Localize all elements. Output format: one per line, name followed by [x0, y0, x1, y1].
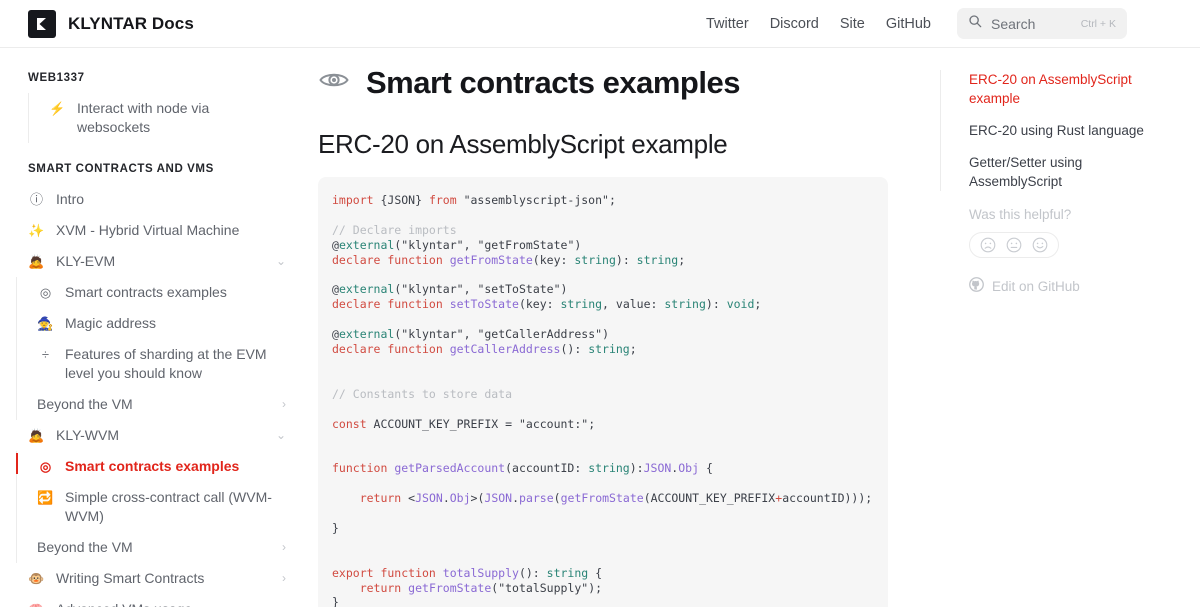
chevron-right-icon[interactable]: › — [282, 600, 286, 607]
sidebar-item-label: KLY-EVM — [56, 252, 265, 271]
nav-link-site[interactable]: Site — [840, 16, 865, 32]
sidebar-item-label: XVM - Hybrid Virtual Machine — [56, 221, 286, 240]
eye-icon — [318, 64, 350, 101]
happy-face-icon[interactable] — [1032, 237, 1048, 253]
bow-person-icon: 🙇 — [28, 252, 45, 271]
klyntar-logo-icon — [28, 10, 56, 38]
info-icon: ⓘ — [28, 190, 45, 209]
sidebar-item-kly-wvm[interactable]: 🙇 KLY-WVM ⌄ — [0, 420, 300, 451]
feedback-section: Was this helpful? — [940, 207, 1176, 295]
nav-link-github[interactable]: GitHub — [886, 16, 931, 32]
sad-face-icon[interactable] — [980, 237, 996, 253]
sparkles-icon: ✨ — [28, 221, 45, 240]
sidebar-item-label: Intro — [56, 190, 286, 209]
github-icon — [969, 277, 984, 295]
sidebar-item-xvm[interactable]: ✨ XVM - Hybrid Virtual Machine — [0, 215, 300, 246]
divide-icon: ÷ — [37, 345, 54, 364]
chevron-right-icon[interactable]: › — [282, 569, 286, 588]
chevron-right-icon[interactable]: › — [282, 538, 286, 557]
brand[interactable]: KLYNTAR Docs — [28, 10, 194, 38]
bow-person-icon: 🙇 — [28, 426, 45, 445]
toc-item-getter-setter[interactable]: Getter/Setter using AssemblyScript — [969, 153, 1176, 191]
section-heading-erc20-assemblyscript: ERC-20 on AssemblyScript example — [318, 129, 940, 160]
toc-item-erc20-assemblyscript[interactable]: ERC-20 on AssemblyScript example — [969, 70, 1176, 108]
nav-link-discord[interactable]: Discord — [770, 16, 819, 32]
sidebar-item-features-of-sharding[interactable]: ÷ Features of sharding at the EVM level … — [17, 339, 300, 389]
sidebar-section-web1337: WEB1337 — [0, 72, 300, 84]
sidebar-item-label: Advanced VMs usage — [56, 600, 271, 607]
toc-item-erc20-rust[interactable]: ERC-20 using Rust language — [969, 121, 1176, 140]
nav-link-twitter[interactable]: Twitter — [706, 16, 749, 32]
sidebar-item-label: Features of sharding at the EVM level yo… — [65, 345, 286, 383]
code-block-erc20-assemblyscript[interactable]: import {JSON} from "assemblyscript-json"… — [318, 177, 888, 607]
sidebar-item-label: Interact with node via websockets — [77, 99, 286, 137]
sidebar-subgroup-kly-evm: ◎ Smart contracts examples 🧙 Magic addre… — [16, 277, 300, 420]
sidebar-section-label: WEB1337 — [28, 72, 85, 84]
sidebar-section-smart-contracts-and-vms: SMART CONTRACTS AND VMS — [0, 163, 300, 175]
sidebar-item-intro[interactable]: ⓘ Intro — [0, 184, 300, 215]
feedback-options — [969, 232, 1059, 258]
sidebar-item-label: Smart contracts examples — [65, 283, 286, 302]
chevron-right-icon[interactable]: › — [282, 395, 286, 414]
sidebar-item-label: KLY-WVM — [56, 426, 265, 445]
sidebar-item-wvm-smart-contracts-examples[interactable]: ◎ Smart contracts examples — [17, 451, 300, 482]
sidebar-subgroup-kly-wvm: ◎ Smart contracts examples 🔁 Simple cros… — [16, 451, 300, 563]
code-content: import {JSON} from "assemblyscript-json"… — [332, 193, 888, 607]
site-header: KLYNTAR Docs Twitter Discord Site GitHub… — [0, 0, 1200, 48]
toc-list: ERC-20 on AssemblyScript example ERC-20 … — [940, 70, 1176, 191]
sidebar-item-label: Beyond the VM — [37, 538, 271, 557]
target-icon: ◎ — [37, 283, 54, 302]
search-input[interactable]: Search Ctrl + K — [957, 8, 1127, 39]
edit-on-github-link[interactable]: Edit on GitHub — [969, 277, 1176, 295]
table-of-contents: ERC-20 on AssemblyScript example ERC-20 … — [940, 48, 1200, 607]
search-icon — [968, 14, 982, 33]
chevron-down-icon[interactable]: ⌄ — [276, 426, 286, 445]
sidebar-item-label: Magic address — [65, 314, 286, 333]
lightning-icon: ⚡ — [49, 99, 66, 118]
sidebar-item-interact-with-node[interactable]: ⚡ Interact with node via websockets — [29, 93, 300, 143]
sidebar-item-writing-smart-contracts[interactable]: 🐵 Writing Smart Contracts › — [0, 563, 300, 594]
sidebar-item-label: Beyond the VM — [37, 395, 271, 414]
brand-title: KLYNTAR Docs — [68, 14, 194, 34]
sidebar-item-label: Smart contracts examples — [65, 457, 286, 476]
sidebar-item-evm-beyond-the-vm[interactable]: Beyond the VM › — [17, 389, 300, 420]
chevron-down-icon[interactable]: ⌄ — [276, 252, 286, 271]
wizard-icon: 🧙 — [37, 314, 54, 333]
sidebar-section-label: SMART CONTRACTS AND VMS — [28, 163, 214, 175]
monkey-icon: 🐵 — [28, 569, 45, 588]
sidebar-item-advanced-vms-usage[interactable]: 🧠 Advanced VMs usage › — [0, 594, 300, 607]
sidebar-item-wvm-beyond-the-vm[interactable]: Beyond the VM › — [17, 532, 300, 563]
sidebar-item-magic-address[interactable]: 🧙 Magic address — [17, 308, 300, 339]
repeat-icon: 🔁 — [37, 488, 54, 507]
sidebar-item-kly-evm[interactable]: 🙇 KLY-EVM ⌄ — [0, 246, 300, 277]
sidebar-item-simple-cross-contract-call[interactable]: 🔁 Simple cross-contract call (WVM-WVM) — [17, 482, 300, 532]
sidebar-item-label: Simple cross-contract call (WVM-WVM) — [65, 488, 286, 526]
page-title-row: Smart contracts examples — [318, 64, 940, 101]
neutral-face-icon[interactable] — [1006, 237, 1022, 253]
search-placeholder: Search — [991, 16, 1072, 32]
main-content: Smart contracts examples ERC-20 on Assem… — [300, 48, 940, 607]
edit-on-github-label: Edit on GitHub — [992, 279, 1080, 294]
sidebar-item-label: Writing Smart Contracts — [56, 569, 271, 588]
sidebar-item-evm-smart-contracts-examples[interactable]: ◎ Smart contracts examples — [17, 277, 300, 308]
sidebar-group-web1337: ⚡ Interact with node via websockets — [28, 93, 300, 143]
target-icon: ◎ — [37, 457, 54, 476]
search-shortcut-hint: Ctrl + K — [1081, 18, 1116, 30]
brain-icon: 🧠 — [28, 600, 45, 607]
left-sidebar[interactable]: WEB1337 ⚡ Interact with node via websock… — [0, 48, 300, 607]
feedback-label: Was this helpful? — [969, 207, 1176, 222]
page-title: Smart contracts examples — [366, 65, 740, 101]
header-nav: Twitter Discord Site GitHub Search Ctrl … — [706, 8, 1127, 39]
